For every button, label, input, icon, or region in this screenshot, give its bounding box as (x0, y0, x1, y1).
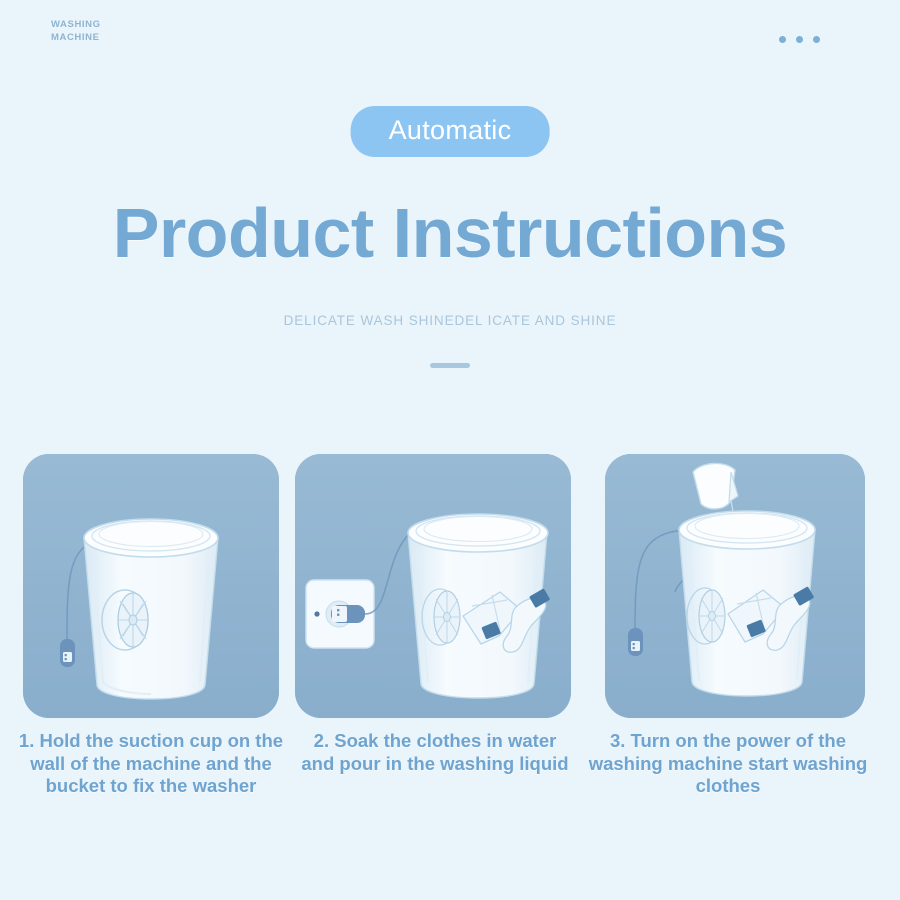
product-instructions-page: WASHING MACHINE Automatic Product Instru… (0, 0, 900, 900)
step-2-caption: 2. Soak the clothes in water and pour in… (300, 730, 570, 775)
dot-2 (796, 36, 803, 43)
page-subtitle: DELICATE WASH SHINEDEL ICATE AND SHINE (0, 313, 900, 328)
brand-line-1: WASHING (51, 18, 101, 31)
step-1-caption: 1. Hold the suction cup on the wall of t… (10, 730, 292, 798)
automatic-badge: Automatic (351, 106, 550, 157)
usb-plug-icon (60, 639, 75, 667)
wall-socket (306, 580, 374, 648)
title-divider (430, 363, 470, 368)
brand-line-2: MACHINE (51, 31, 101, 44)
dot-3 (813, 36, 820, 43)
usb-plug-icon (628, 628, 643, 656)
brand-logo: WASHING MACHINE (51, 18, 101, 44)
dot-1 (779, 36, 786, 43)
page-title: Product Instructions (0, 193, 900, 273)
step-1-illustration-panel (23, 454, 279, 718)
step-3-caption: 3. Turn on the power of the washing mach… (578, 730, 878, 798)
step-3-illustration-panel (605, 454, 865, 718)
step-2-illustration-panel (295, 454, 571, 718)
steps-illustrations (0, 454, 900, 718)
three-dots-icon[interactable] (779, 36, 820, 43)
